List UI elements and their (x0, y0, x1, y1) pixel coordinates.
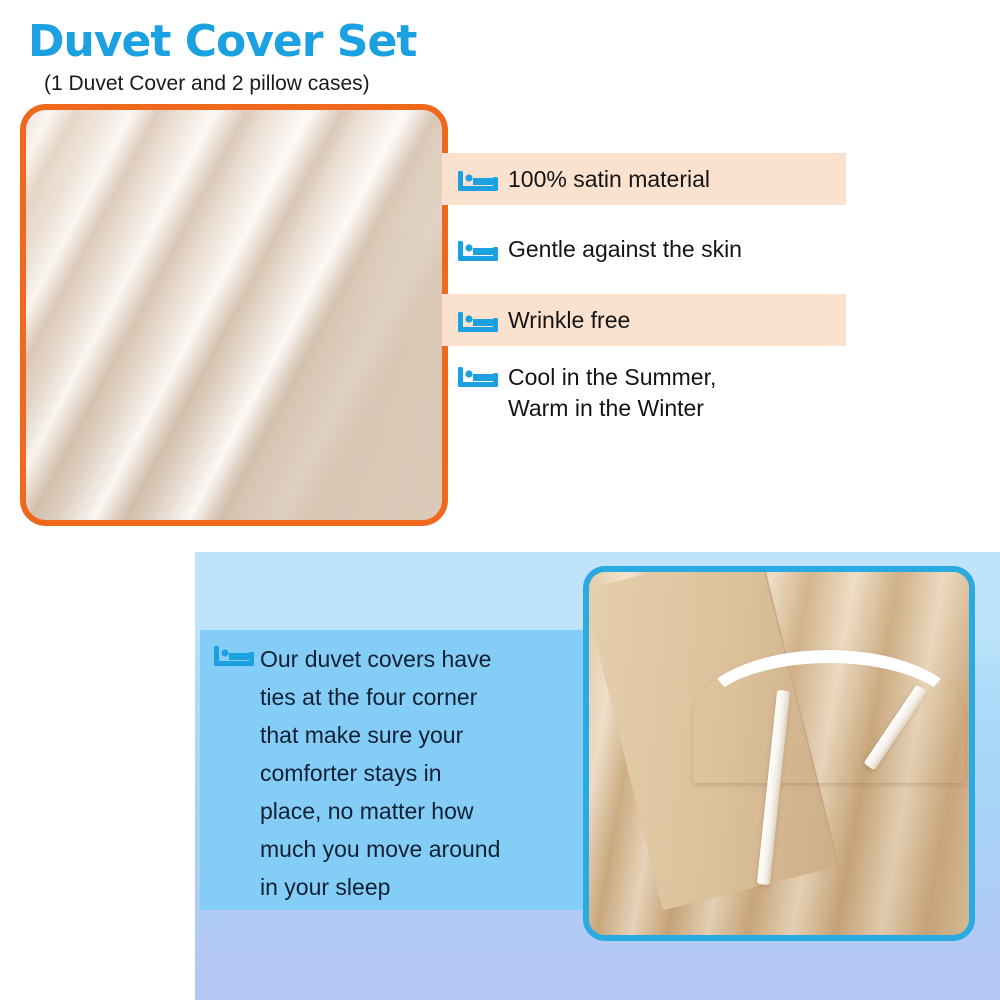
feature-label: 100% satin material (504, 164, 710, 195)
feature-label: Cool in the Summer, Warm in the Winter (504, 362, 716, 424)
satin-fabric-texture (26, 110, 442, 520)
feature-list: 100% satin material Gentle against the s… (442, 104, 962, 534)
bed-icon (214, 640, 258, 668)
bed-icon (458, 307, 504, 334)
bed-icon (458, 166, 504, 193)
infographic-stage: Duvet Cover Set (1 Duvet Cover and 2 pil… (0, 0, 1000, 1000)
bed-icon (458, 362, 504, 389)
feature-label: Gentle against the skin (504, 234, 742, 265)
feature-item-1: 100% satin material (442, 153, 846, 205)
page-subtitle: (1 Duvet Cover and 2 pillow cases) (44, 72, 370, 96)
feature-item-4: Cool in the Summer, Warm in the Winter (442, 362, 846, 436)
panel-copy: Our duvet covers have ties at the four c… (200, 640, 590, 906)
page-title: Duvet Cover Set (28, 16, 416, 67)
bed-icon (458, 236, 504, 263)
tie-detail-photo (583, 566, 975, 941)
feature-item-3: Wrinkle free (442, 294, 846, 346)
panel-body-text: Our duvet covers have ties at the four c… (258, 640, 500, 906)
feature-item-2: Gentle against the skin (442, 223, 846, 275)
ribbon-tie-arc (693, 650, 965, 783)
main-product-photo (20, 104, 448, 526)
feature-label: Wrinkle free (504, 305, 630, 336)
